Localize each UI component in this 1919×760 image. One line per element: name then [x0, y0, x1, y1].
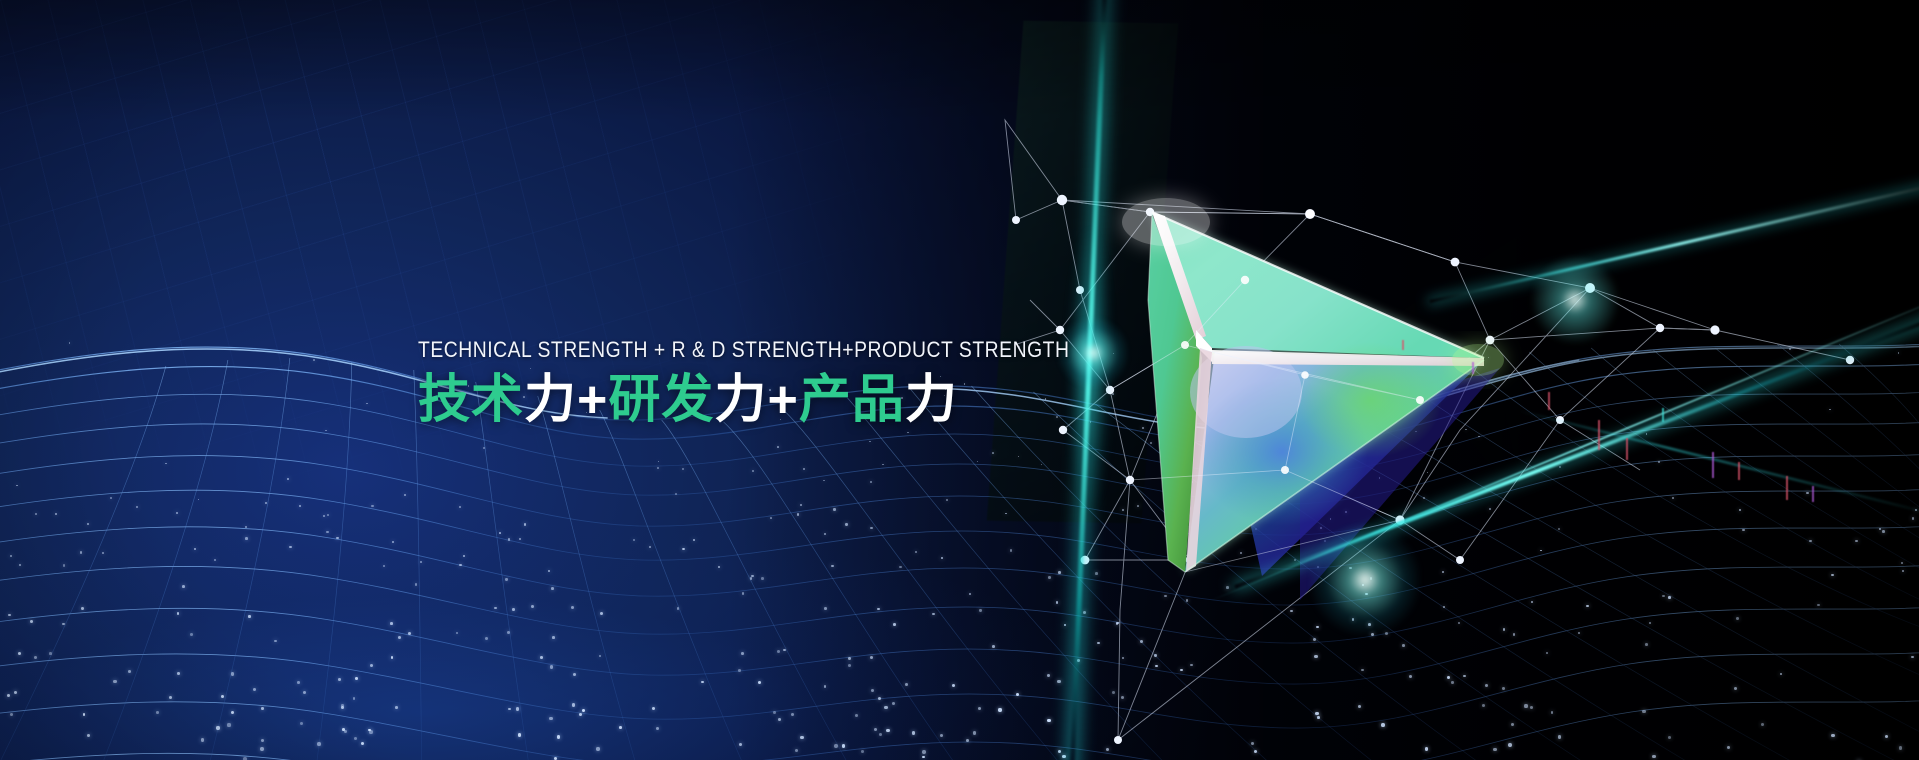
- headline-segment-7: 产品: [799, 371, 905, 429]
- slab-tick: [1662, 408, 1664, 422]
- headline-segment-6: +: [767, 371, 798, 429]
- headline-segment-4: 研发: [608, 371, 714, 429]
- page-title: 技术力+研发力+产品力: [418, 370, 1038, 430]
- slab-tick: [1812, 486, 1814, 502]
- slab-tick: [1598, 420, 1600, 450]
- headline-segment-1: 技术: [418, 371, 524, 429]
- headline-segment-2: 力: [524, 371, 577, 429]
- slab-tick: [1402, 340, 1404, 350]
- headline-segment-5: 力: [714, 371, 767, 429]
- slab-tick: [1626, 438, 1628, 460]
- slab-tick: [1548, 392, 1550, 410]
- headline-segment-3: +: [577, 371, 608, 429]
- slab-tick: [1786, 476, 1788, 500]
- eyebrow-text: TECHNICAL STRENGTH + R & D STRENGTH+PROD…: [418, 338, 951, 363]
- headline-segment-8: 力: [905, 371, 958, 429]
- headline-text-block: TECHNICAL STRENGTH + R & D STRENGTH+PROD…: [418, 338, 1038, 430]
- slab-tick: [1472, 362, 1474, 374]
- hero-banner: TECHNICAL STRENGTH + R & D STRENGTH+PROD…: [0, 0, 1919, 760]
- slab-tick: [1738, 462, 1740, 480]
- slab-tick: [1712, 452, 1714, 478]
